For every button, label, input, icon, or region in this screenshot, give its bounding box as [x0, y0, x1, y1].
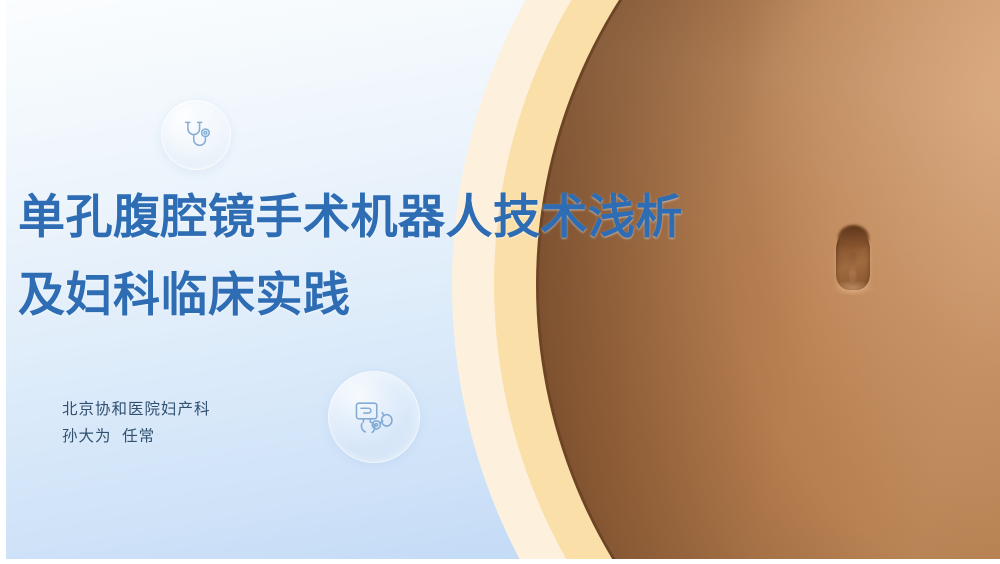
presentation-slide: 单孔腹腔镜手术机器人技术浅析 及妇科临床实践 北京协和医院妇产科 孙大为 任常	[0, 0, 1000, 564]
slide-edge-bottom	[0, 559, 1000, 564]
slide-subtitle: 北京协和医院妇产科 孙大为 任常	[62, 396, 211, 450]
slide-title-line-2: 及妇科临床实践	[18, 256, 718, 334]
decorative-bubble-blood-pressure	[328, 371, 420, 463]
decorative-bubble-stethoscope	[161, 100, 231, 170]
navel-hood	[838, 225, 869, 251]
authors-text: 孙大为 任常	[62, 423, 211, 450]
affiliation-text: 北京协和医院妇产科	[62, 396, 211, 423]
stethoscope-icon	[178, 117, 214, 153]
navel-fold	[849, 252, 856, 282]
slide-title-line-1: 单孔腹腔镜手术机器人技术浅析	[18, 178, 718, 256]
navel-highlight	[830, 280, 876, 296]
slide-edge-left	[0, 0, 6, 564]
blood-pressure-monitor-icon	[350, 393, 398, 441]
slide-title: 单孔腹腔镜手术机器人技术浅析 及妇科临床实践	[18, 178, 718, 334]
navel-detail	[836, 228, 870, 290]
